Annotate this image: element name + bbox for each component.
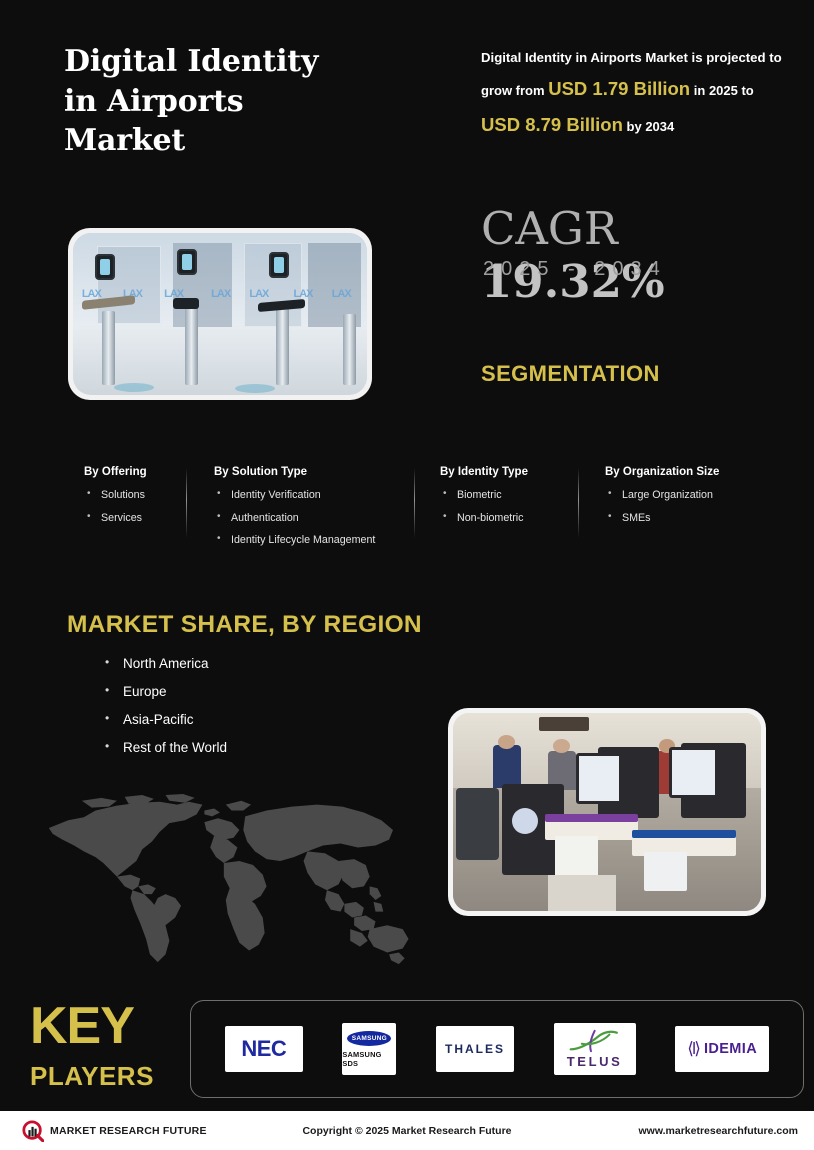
projection-by-2034: by 2034 — [627, 119, 675, 134]
logo-thales: THALES — [436, 1026, 514, 1072]
market-projection-statement: Digital Identity in Airports Market is p… — [481, 45, 789, 143]
projection-grow-from: grow from — [481, 83, 545, 98]
logo-nec: NEC — [225, 1026, 303, 1072]
segmentation-item: Solutions — [84, 490, 147, 501]
region-item: Asia-Pacific — [103, 712, 227, 727]
key-players-title-players: PLAYERS — [30, 1063, 154, 1089]
logo-nec-text: NEC — [241, 1036, 286, 1062]
segmentation-item: Services — [84, 513, 147, 524]
lax-signage-icon: LAX — [211, 288, 230, 300]
logo-telus-text: TELUS — [567, 1054, 623, 1069]
region-item: North America — [103, 656, 227, 671]
infographic-poster: Digital Identity in Airports Market Digi… — [0, 0, 814, 1111]
key-players-title-key: KEY — [30, 1000, 134, 1052]
cagr-year-range: 2025 - 2034 — [483, 258, 667, 281]
market-share-heading: MARKET SHARE, BY REGION — [67, 611, 422, 639]
projection-value-2025: USD 1.79 Billion — [548, 78, 690, 99]
segmentation-divider — [414, 468, 415, 538]
key-players-logo-container: NEC SAMSUNG SAMSUNG SDS THALES TELUS ⟨ǀ⟩… — [190, 1000, 804, 1098]
segmentation-heading-offering: By Offering — [84, 466, 147, 478]
segmentation-heading-solution-type: By Solution Type — [214, 466, 375, 478]
market-share-region-list: North America Europe Asia-Pacific Rest o… — [103, 656, 227, 768]
logo-samsung-brand: SAMSUNG — [352, 1035, 387, 1042]
segmentation-column-solution-type: By Solution Type Identity Verification A… — [214, 466, 375, 558]
telus-swirl-icon — [567, 1029, 622, 1053]
logo-idemia-text: IDEMIA — [704, 1041, 757, 1057]
region-item: Rest of the World — [103, 740, 227, 755]
segmentation-column-organization-size: By Organization Size Large Organization … — [605, 466, 719, 535]
idemia-bracket-icon: ⟨ǀ⟩ — [687, 1039, 699, 1059]
segmentation-heading: SEGMENTATION — [481, 361, 660, 387]
footer-copyright: Copyright © 2025 Market Research Future — [302, 1125, 511, 1137]
footer-brand: MARKET RESEARCH FUTURE — [22, 1120, 207, 1142]
footer-website-url[interactable]: www.marketresearchfuture.com — [638, 1125, 798, 1137]
segmentation-heading-organization-size: By Organization Size — [605, 466, 719, 478]
page-title: Digital Identity in Airports Market — [64, 42, 424, 161]
segmentation-item: SMEs — [605, 513, 719, 524]
segmentation-heading-identity-type: By Identity Type — [440, 466, 528, 478]
segmentation-item: Large Organization — [605, 490, 719, 501]
logo-idemia: ⟨ǀ⟩ IDEMIA — [675, 1026, 769, 1072]
segmentation-columns: By Offering Solutions Services By Soluti… — [0, 466, 814, 566]
cagr-label: CAGR — [481, 202, 618, 255]
segmentation-item: Biometric — [440, 490, 528, 501]
world-map-graphic — [22, 793, 414, 968]
segmentation-item: Identity Verification — [214, 490, 375, 501]
segmentation-item: Identity Lifecycle Management — [214, 535, 375, 546]
page-title-line-1: Digital Identity — [64, 42, 424, 82]
lax-signage-icon: LAX — [249, 288, 268, 300]
segmentation-divider — [186, 468, 187, 538]
page-title-line-3: Market — [64, 121, 424, 161]
segmentation-item: Non-biometric — [440, 513, 528, 524]
segmentation-column-offering: By Offering Solutions Services — [84, 466, 147, 535]
airport-checkpoint-kiosks-photo — [448, 708, 766, 916]
projection-line-1: Digital Identity in Airports Market is p… — [481, 50, 782, 65]
airport-biometric-gates-photo: LAX LAX LAX LAX LAX LAX LAX — [68, 228, 372, 400]
segmentation-column-identity-type: By Identity Type Biometric Non-biometric — [440, 466, 528, 535]
market-research-future-logo-icon — [22, 1120, 44, 1142]
page-title-line-2: in Airports — [64, 82, 424, 122]
footer-brand-text: MARKET RESEARCH FUTURE — [50, 1125, 207, 1137]
region-item: Europe — [103, 684, 227, 699]
lax-signage-icon: LAX — [332, 288, 351, 300]
segmentation-divider — [578, 468, 579, 538]
logo-thales-text: THALES — [445, 1042, 505, 1056]
logo-samsung-sds-text: SAMSUNG SDS — [342, 1050, 396, 1068]
segmentation-item: Authentication — [214, 513, 375, 524]
projection-in-2025-to: in 2025 to — [694, 83, 754, 98]
projection-value-2034: USD 8.79 Billion — [481, 114, 623, 135]
cagr-block: CAGR 19.32% — [481, 202, 801, 308]
logo-samsung-sds: SAMSUNG SAMSUNG SDS — [342, 1023, 396, 1075]
logo-telus: TELUS — [554, 1023, 636, 1075]
footer-bar: MARKET RESEARCH FUTURE Copyright © 2025 … — [0, 1111, 814, 1150]
samsung-ellipse-icon: SAMSUNG — [347, 1031, 391, 1046]
